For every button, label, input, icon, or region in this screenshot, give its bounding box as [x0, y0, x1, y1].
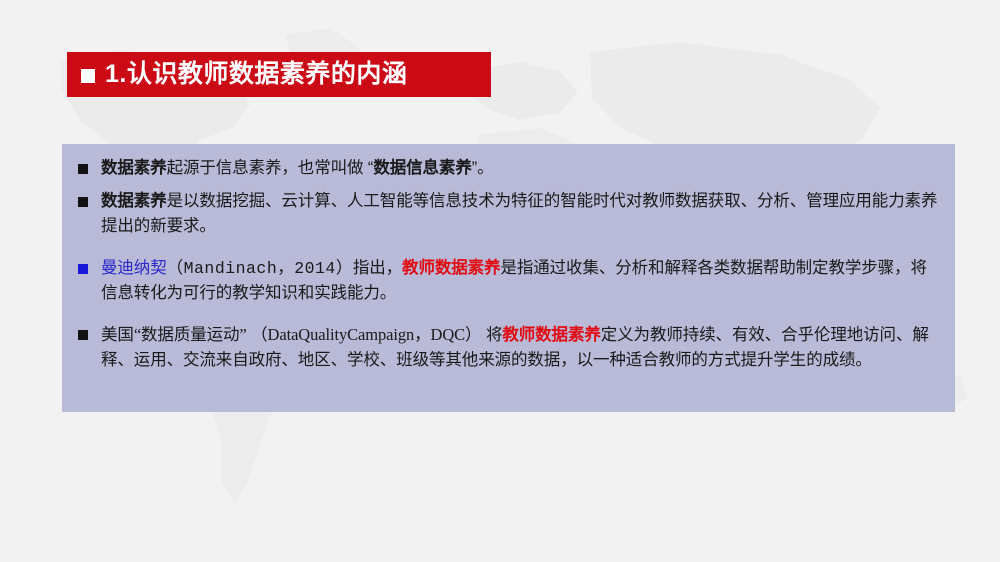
bullet-3-citation: （Mandinach，2014）: [167, 259, 353, 278]
bullet-item-3: 曼迪纳契（Mandinach，2014）指出，教师数据素养是指通过收集、分析和解…: [76, 256, 939, 306]
bullet-item-4: 美国“数据质量运动” （DataQualityCampaign，DQC） 将教师…: [76, 322, 939, 373]
bullet-3-author: 曼迪纳契: [101, 259, 167, 277]
square-bullet-icon: [78, 330, 88, 340]
bullet-4-highlight: 教师数据素养: [502, 326, 600, 344]
bullet-4-verb: 将: [486, 326, 502, 344]
slide-title-bar: 1.认识教师数据素养的内涵: [67, 52, 491, 97]
bullet-1-term: 数据素养: [101, 159, 167, 177]
bullet-1-emphasis: 数据信息素养: [373, 159, 471, 177]
bullet-2-text: 是以数据挖掘、云计算、人工智能等信息技术为特征的智能时代对教师数据获取、分析、管…: [101, 192, 937, 235]
square-bullet-icon: [78, 197, 88, 207]
title-square-marker: [81, 69, 95, 83]
content-panel: 数据素养起源于信息素养，也常叫做 “数据信息素养”。 数据素养是以数据挖掘、云计…: [62, 144, 955, 412]
bullet-2-term: 数据素养: [101, 192, 167, 210]
bullet-item-2: 数据素养是以数据挖掘、云计算、人工智能等信息技术为特征的智能时代对教师数据获取、…: [76, 189, 939, 239]
bullet-3-highlight: 教师数据素养: [402, 259, 500, 277]
bullet-3-verb: 指出，: [353, 259, 402, 277]
bullet-item-1: 数据素养起源于信息素养，也常叫做 “数据信息素养”。: [76, 156, 939, 181]
bullet-4-quoted-name: “数据质量运动”: [134, 325, 247, 344]
square-bullet-icon-blue: [78, 264, 88, 274]
page-title: 1.认识教师数据素养的内涵: [105, 62, 407, 87]
bullet-4-country: 美国: [101, 326, 134, 344]
bullet-4-english-name: （DataQualityCampaign，DQC）: [251, 325, 481, 344]
slide-canvas: 1.认识教师数据素养的内涵 数据素养起源于信息素养，也常叫做 “数据信息素养”。…: [0, 0, 1000, 562]
bullet-1-text-a: 起源于信息素养，也常叫做: [167, 159, 364, 177]
square-bullet-icon: [78, 164, 88, 174]
bullet-1-period: 。: [477, 159, 493, 177]
